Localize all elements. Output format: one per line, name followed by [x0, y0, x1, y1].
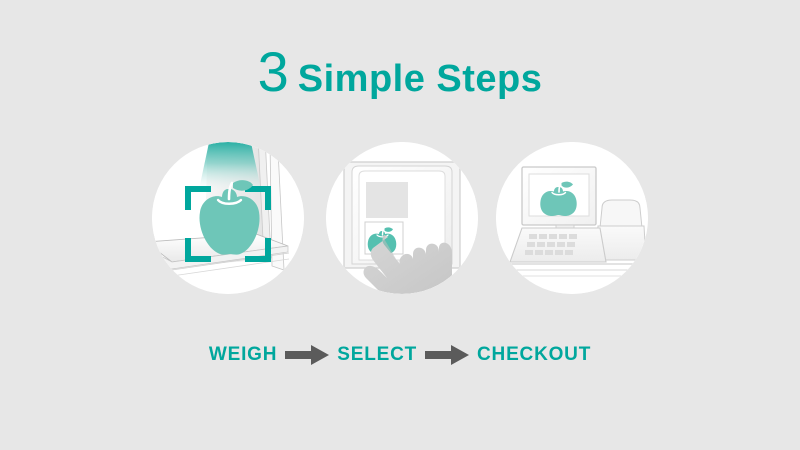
- arrow-right-icon-2: [417, 338, 477, 372]
- step-label-checkout: CHECKOUT: [477, 338, 591, 372]
- step-label-select: SELECT: [337, 338, 417, 372]
- steps-row: WEIGH SELECT CHECKOUT: [0, 338, 800, 372]
- display-area: [366, 182, 408, 218]
- arrow-right-icon-1: [277, 338, 337, 372]
- step-label-weigh: WEIGH: [209, 338, 277, 372]
- title-number: 3: [258, 40, 289, 103]
- weigh-illustration: [152, 142, 304, 294]
- infographic-stage: 3Simple Steps: [0, 0, 800, 450]
- checkout-illustration: [496, 142, 648, 294]
- page-title: 3Simple Steps: [0, 44, 800, 100]
- keyboard: [510, 228, 606, 262]
- title-text: Simple Steps: [298, 58, 543, 100]
- select-illustration: [326, 142, 478, 294]
